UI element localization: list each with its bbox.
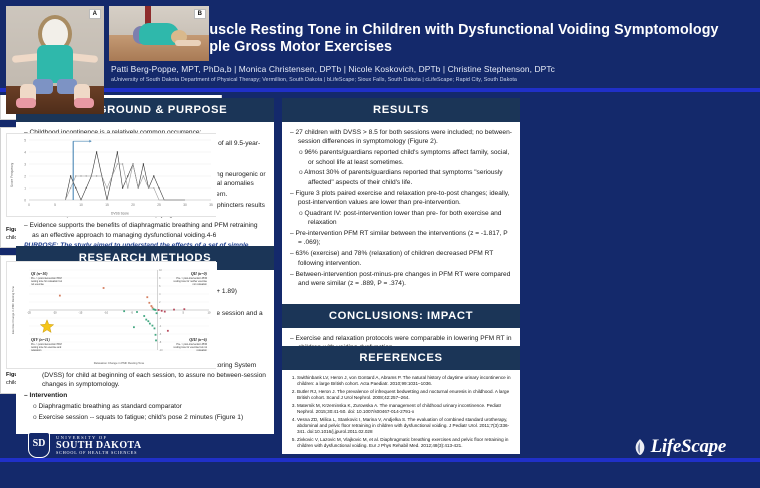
- svg-text:20: 20: [131, 203, 135, 207]
- svg-text:25: 25: [157, 203, 161, 207]
- svg-text:Exercise Change in PMF Resting: Exercise Change in PMF Resting Tone: [11, 286, 15, 334]
- svg-text:0: 0: [24, 199, 26, 203]
- figure-3-chart: -25-20-15-10-5510-10-8-6-4-2246810QI (n=…: [6, 261, 216, 369]
- conclusions-heading: CONCLUSIONS: IMPACT: [282, 304, 520, 328]
- results-item: Pre-intervention PFM RT similar between …: [290, 229, 512, 248]
- intervention-item: Diaphragmatic breathing as standard comp…: [24, 402, 266, 411]
- results-item: Figure 3 plots paired exercise and relax…: [290, 189, 512, 208]
- photo-tag-a: A: [89, 9, 101, 19]
- svg-text:10: 10: [79, 203, 83, 207]
- results-body: 27 children with DVSS > 8.5 for both ses…: [282, 122, 520, 294]
- svg-text:1: 1: [24, 187, 26, 191]
- usd-wordmark: UNIVERSITY OF SOUTH DAKOTA SCHOOL OF HEA…: [56, 435, 141, 456]
- svg-text:-15: -15: [79, 311, 83, 315]
- svg-text:DVSS Score: DVSS Score: [111, 212, 129, 216]
- references-body: Swithinbank LV, Heron J, von Gontard A, …: [282, 370, 520, 456]
- svg-text:relaxation: relaxation: [31, 349, 42, 352]
- lifescape-logo: LifeScape: [632, 436, 726, 458]
- lifescape-wordmark: LifeScape: [651, 436, 726, 458]
- results-item: 63% (exercise) and 78% (relaxation) of c…: [290, 249, 512, 268]
- background-item: Evidence supports the benefits of diaphr…: [24, 221, 266, 240]
- photo-childs-pose: B: [109, 6, 209, 61]
- intervention-item: Exercise session -- squats to fatigue; c…: [24, 413, 266, 422]
- results-item: 96% parents/guardians reported child's s…: [290, 148, 512, 167]
- svg-text:QIII (n=6): QIII (n=6): [189, 337, 207, 342]
- svg-text:5: 5: [54, 203, 56, 207]
- svg-text:relaxation: relaxation: [197, 349, 208, 352]
- reference-item: Maternik M, Krzeminska K, Zurowska A. Th…: [297, 403, 513, 415]
- results-item: 27 children with DVSS > 8.5 for both ses…: [290, 128, 512, 147]
- reference-item: Butler RJ, Heron J. The prevalence of in…: [297, 389, 513, 401]
- figure-2-chart: 01234505101520253035Score FrequencyDVSS …: [6, 133, 216, 217]
- intervention-label: Intervention: [24, 391, 266, 400]
- svg-text:QIV (n=11): QIV (n=11): [31, 337, 51, 342]
- svg-text:30: 30: [183, 203, 187, 207]
- svg-text:-25: -25: [27, 311, 31, 315]
- reference-item: Swithinbank LV, Heron J, von Gontard A, …: [297, 375, 513, 387]
- photo-tag-b: B: [194, 9, 206, 19]
- usd-shield-icon: [28, 432, 50, 458]
- svg-text:-10: -10: [104, 311, 108, 315]
- affiliation-list: aUniversity of South Dakota Department o…: [111, 77, 746, 83]
- photo-squat-position: A: [6, 6, 104, 114]
- svg-text:-20: -20: [53, 311, 57, 315]
- results-heading: RESULTS: [282, 98, 520, 122]
- author-list: Patti Berg-Poppe, MPT, PhDa,b | Monica C…: [111, 64, 746, 74]
- svg-text:not exercise: not exercise: [31, 283, 45, 286]
- reference-item: Zivkovic V, Lazovic M, Vlajkovic M, et a…: [297, 437, 513, 449]
- poster-canvas: AUDIO Pelvic Floor Muscle Resting Tone i…: [0, 0, 760, 488]
- references-heading: REFERENCES: [282, 346, 520, 370]
- results-item: Almost 30% of parents/guardians reported…: [290, 168, 512, 187]
- svg-text:QII (n=0): QII (n=0): [191, 271, 208, 276]
- svg-text:Score Frequency: Score Frequency: [10, 162, 14, 187]
- poster-footer: [0, 462, 760, 488]
- svg-text:Relaxation Change in PMF Resti: Relaxation Change in PMF Resting Tone: [94, 361, 145, 365]
- reference-item: Vesna ZD, Milica L, Stankovic I, Marina …: [297, 417, 513, 436]
- svg-text:15: 15: [105, 203, 109, 207]
- svg-text:5: 5: [24, 139, 26, 143]
- svg-text:QI (n=10): QI (n=10): [31, 271, 48, 276]
- section-gap: [282, 294, 520, 304]
- usd-line-3: SCHOOL OF HEALTH SCIENCES: [56, 451, 141, 456]
- results-item: Between-intervention post-minus-pre chan…: [290, 270, 512, 289]
- results-item: Quadrant IV: post-intervention lower tha…: [290, 209, 512, 228]
- svg-text:3: 3: [24, 163, 26, 167]
- svg-text:0: 0: [28, 203, 30, 207]
- lifescape-mark-icon: [632, 438, 648, 456]
- references-card: REFERENCES Swithinbank LV, Heron J, von …: [282, 346, 520, 454]
- svg-text:2: 2: [24, 175, 26, 179]
- svg-text:nor relaxation: nor relaxation: [193, 283, 208, 286]
- svg-text:35: 35: [209, 203, 213, 207]
- usd-logo: UNIVERSITY OF SOUTH DAKOTA SCHOOL OF HEA…: [28, 432, 141, 458]
- header-accent-strip-2: [0, 92, 760, 95]
- svg-text:4: 4: [24, 151, 26, 155]
